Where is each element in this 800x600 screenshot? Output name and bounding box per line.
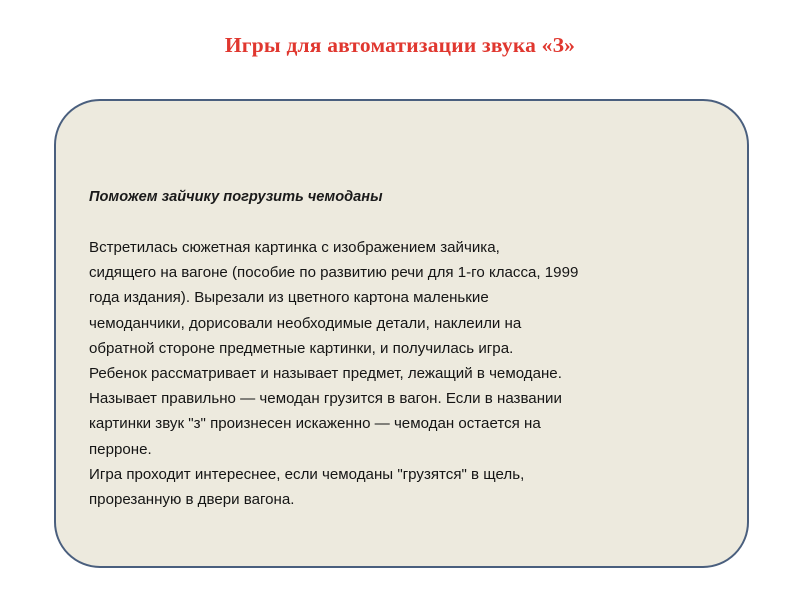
slide-canvas: Игры для автоматизации звука «З» Поможем…	[0, 0, 800, 600]
card-paragraph: Встретилась сюжетная картинка с изображе…	[89, 235, 725, 512]
page-title: Игры для автоматизации звука «З»	[0, 33, 800, 58]
card-body: Поможем зайчику погрузить чемоданы Встре…	[89, 185, 725, 512]
card-heading: Поможем зайчику погрузить чемоданы	[89, 185, 725, 210]
content-card: Поможем зайчику погрузить чемоданы Встре…	[54, 99, 749, 568]
heading-body-spacer	[89, 210, 725, 235]
